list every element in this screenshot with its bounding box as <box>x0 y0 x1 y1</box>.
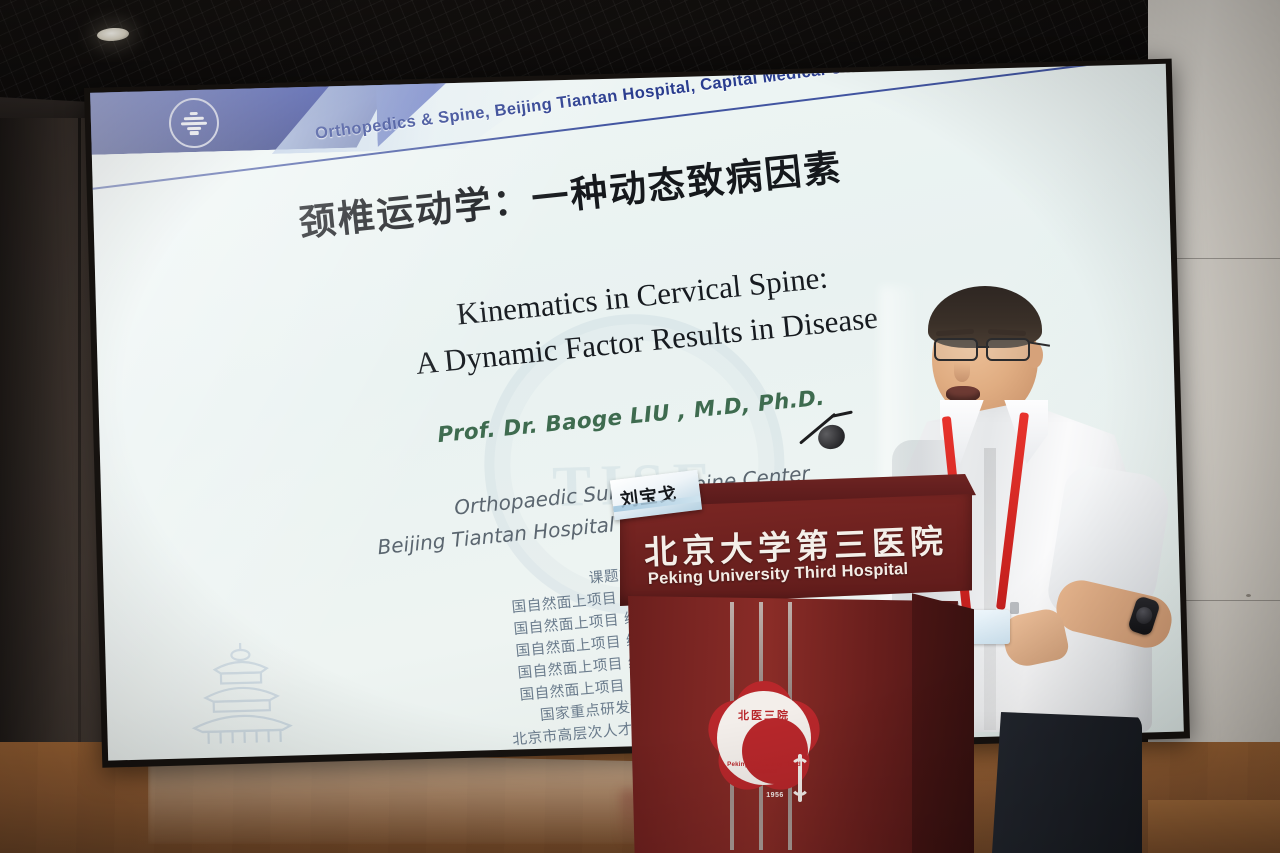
slide-author: Prof. Dr. Baoge LIU , M.D, Ph.D. <box>371 379 891 454</box>
slide-title-en: Kinematics in Cervical Spine: A Dynamic … <box>341 244 947 393</box>
wood-floor-right <box>1148 800 1280 853</box>
glasses-lens-left <box>934 338 978 361</box>
wall-fixture-dot <box>1246 594 1251 597</box>
lanyard-clip-right <box>1010 602 1019 614</box>
hospital-emblem-icon: 北医三院 1956 Peking University Third Hospit… <box>706 680 822 796</box>
mouth <box>946 386 980 402</box>
emblem-disc: 北医三院 1956 Peking University Third Hospit… <box>717 691 811 785</box>
lectern: 北京大学第三医院 Peking University Third Hospita… <box>612 470 976 853</box>
trousers <box>992 712 1142 853</box>
emblem-text-en: Peking University Third Hospital <box>717 761 811 775</box>
lectern-side-panel <box>912 588 974 853</box>
nose <box>954 362 970 382</box>
glasses-icon <box>930 338 1044 364</box>
conference-room-photo: Orthopedics & Spine, Beijing Tiantan Hos… <box>0 0 1280 853</box>
slide-title-cn: 颈椎运动学：一种动态致病因素 <box>296 125 958 247</box>
glasses-bridge <box>977 346 989 348</box>
glasses-lens-right <box>986 338 1030 361</box>
emblem-year: 1956 <box>742 792 808 799</box>
shirt-placket <box>984 448 996 730</box>
glasses-temple-arm <box>1028 341 1050 347</box>
